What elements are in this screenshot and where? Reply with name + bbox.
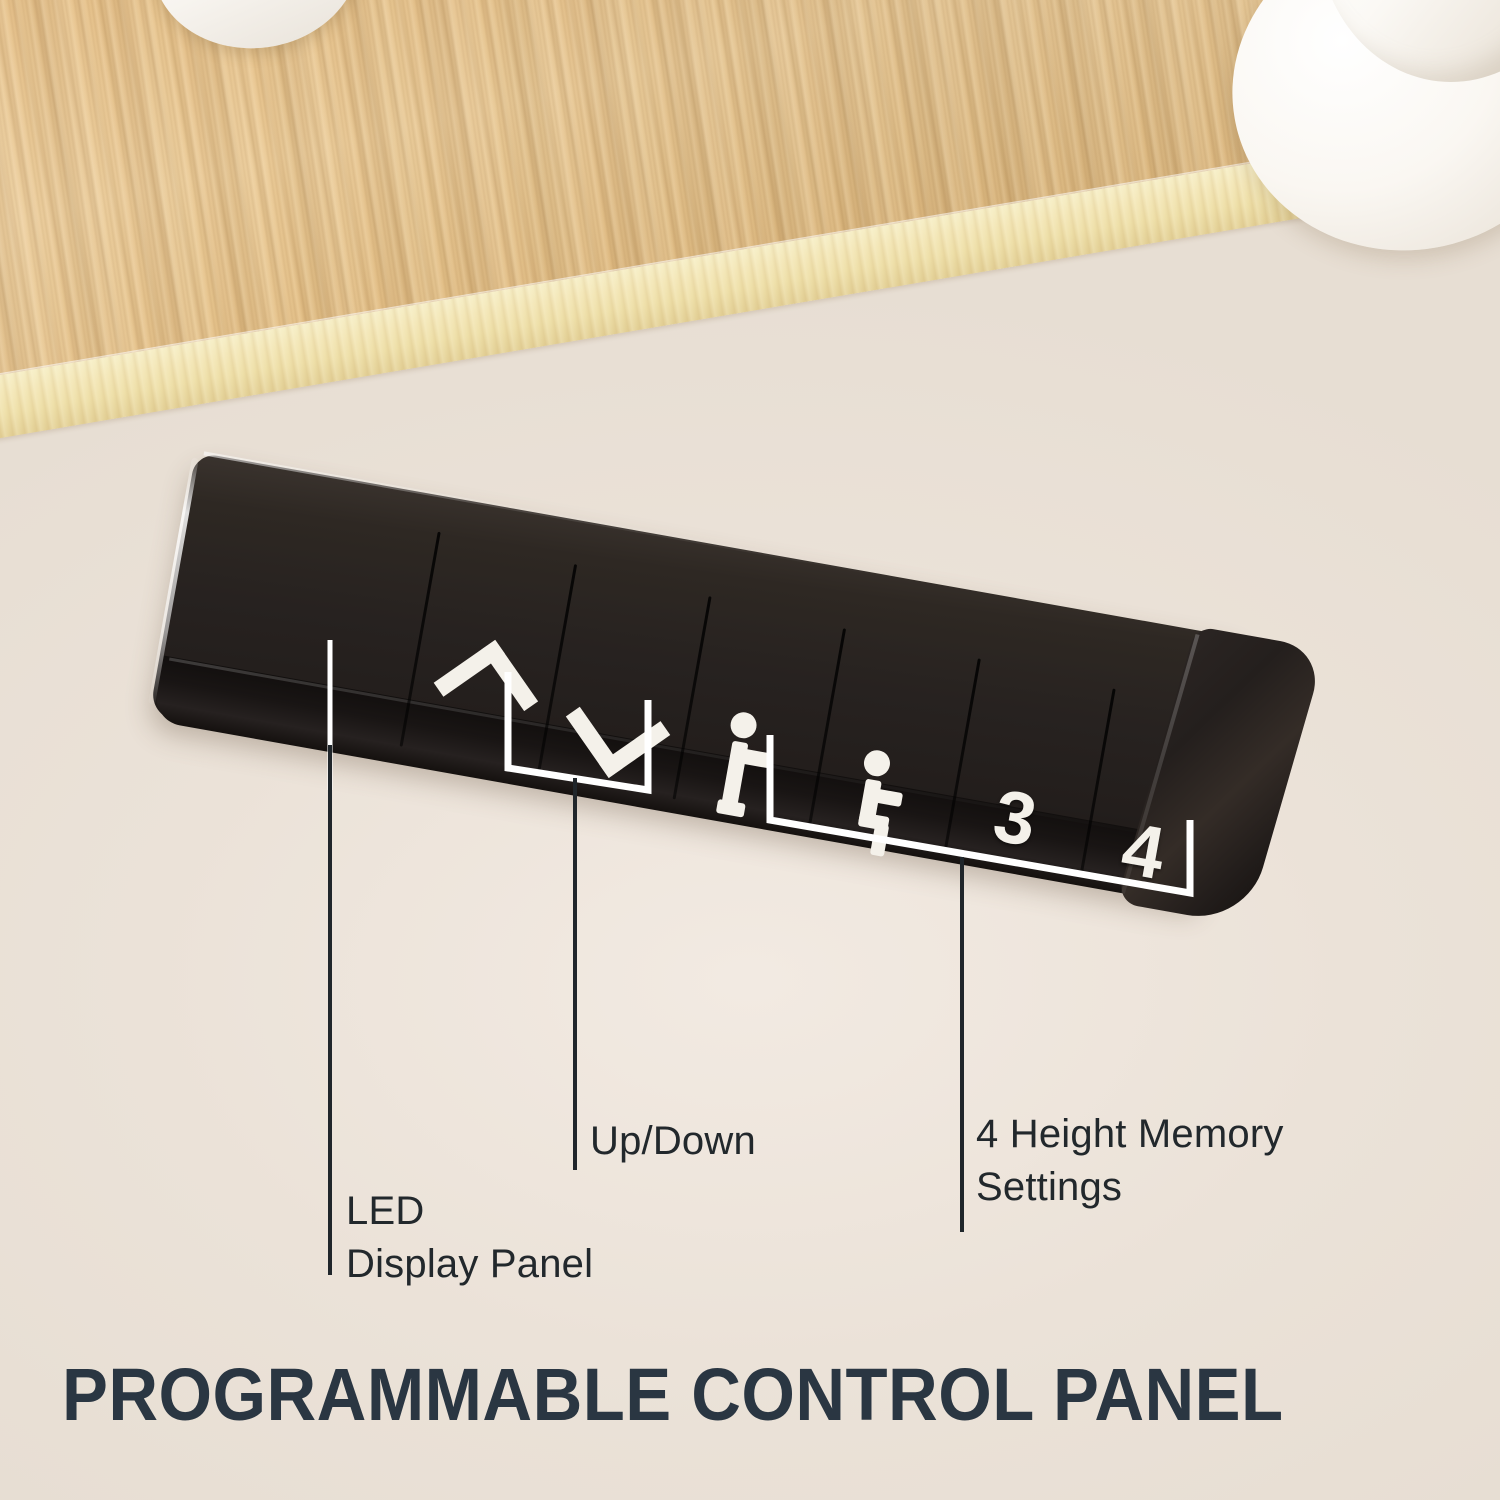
page-title: PROGRAMMABLE CONTROL PANEL bbox=[62, 1352, 1284, 1437]
callout-updown: Up/Down bbox=[590, 1115, 756, 1168]
memory-4-label: 4 bbox=[1116, 811, 1169, 891]
sitting-person-icon bbox=[862, 748, 892, 778]
chevron-down-icon bbox=[566, 674, 670, 778]
callout-led: LED Display Panel bbox=[346, 1185, 593, 1291]
callout-memory: 4 Height Memory Settings bbox=[976, 1108, 1284, 1214]
standing-person-icon bbox=[728, 710, 758, 740]
product-infographic: 3 4 LED Display Panel Up/Down 4 Height M… bbox=[0, 0, 1500, 1500]
led-display-panel[interactable] bbox=[156, 463, 440, 752]
memory-3-label: 3 bbox=[988, 778, 1041, 858]
chevron-up-icon bbox=[434, 640, 538, 744]
